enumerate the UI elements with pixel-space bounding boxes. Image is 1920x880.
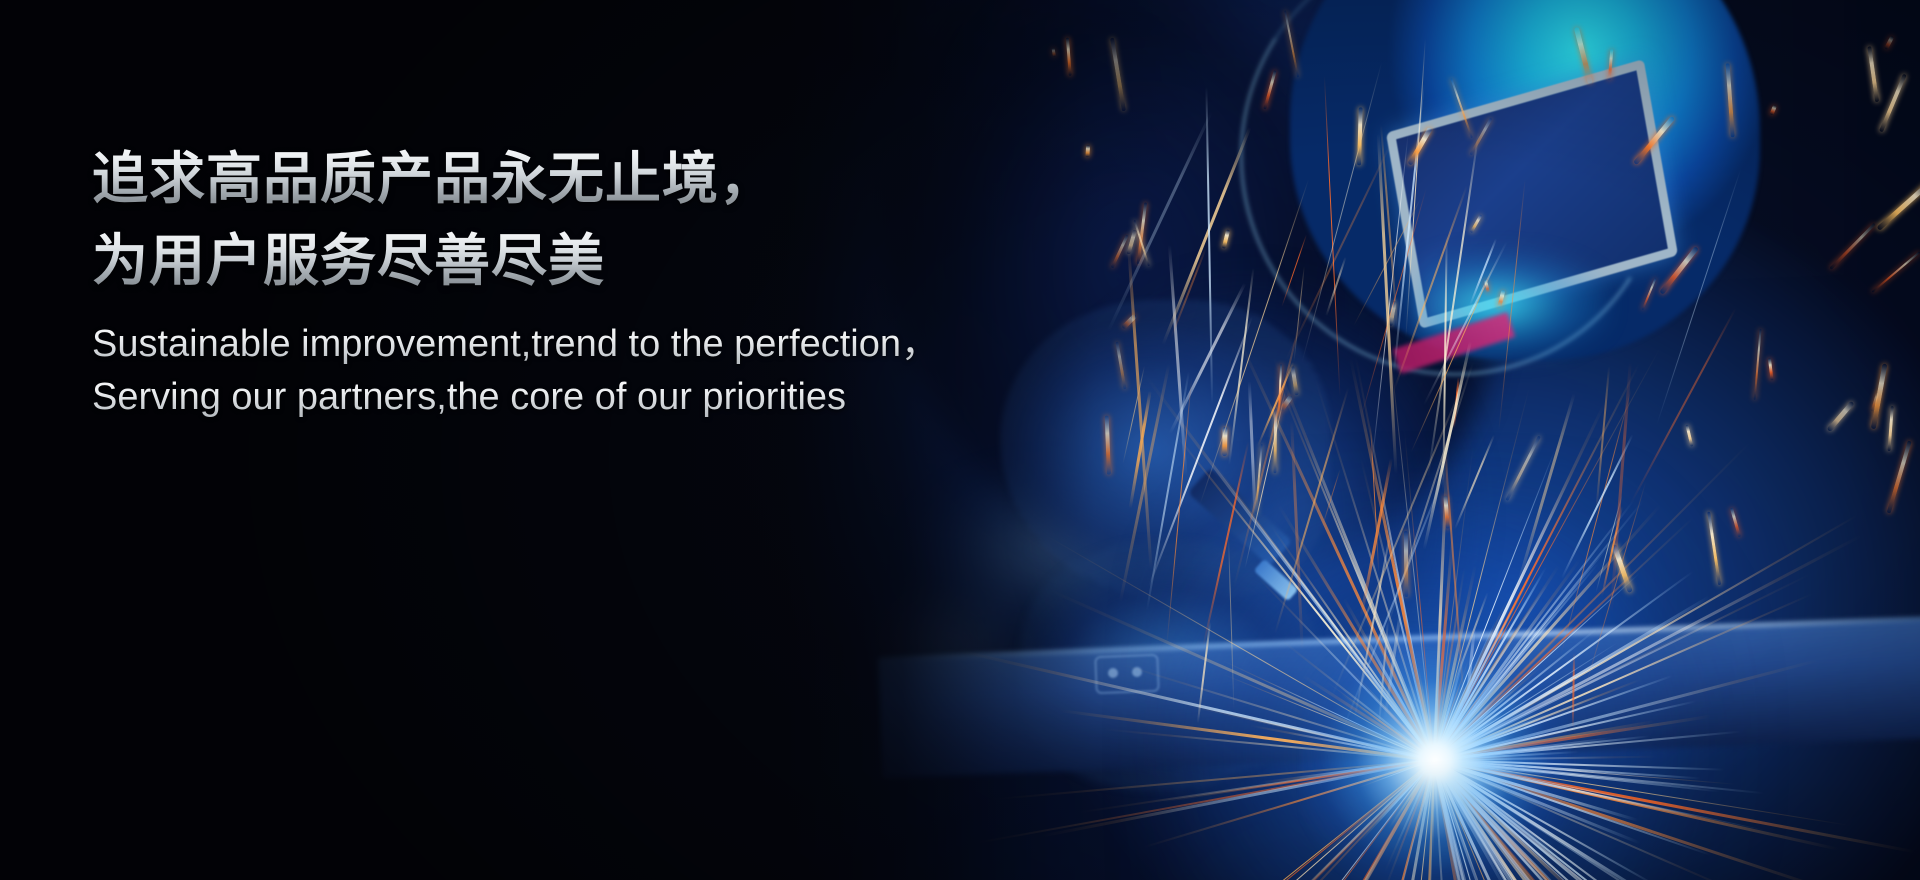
headline-line-2: 为用户服务尽善尽美	[92, 220, 939, 302]
subheadline-line-1: Sustainable improvement,trend to the per…	[92, 318, 939, 371]
subheadline-line-2: Serving our partners,the core of our pri…	[92, 371, 939, 424]
subheadline-group: Sustainable improvement,trend to the per…	[92, 318, 939, 424]
hero-banner: 追求高品质产品永无止境， 为用户服务尽善尽美 Sustainable impro…	[0, 0, 1920, 880]
left-darkening-gradient	[0, 0, 1920, 880]
hero-copy: 追求高品质产品永无止境， 为用户服务尽善尽美 Sustainable impro…	[92, 138, 939, 424]
background-photo	[0, 0, 1920, 880]
headline-line-1: 追求高品质产品永无止境，	[92, 138, 939, 220]
